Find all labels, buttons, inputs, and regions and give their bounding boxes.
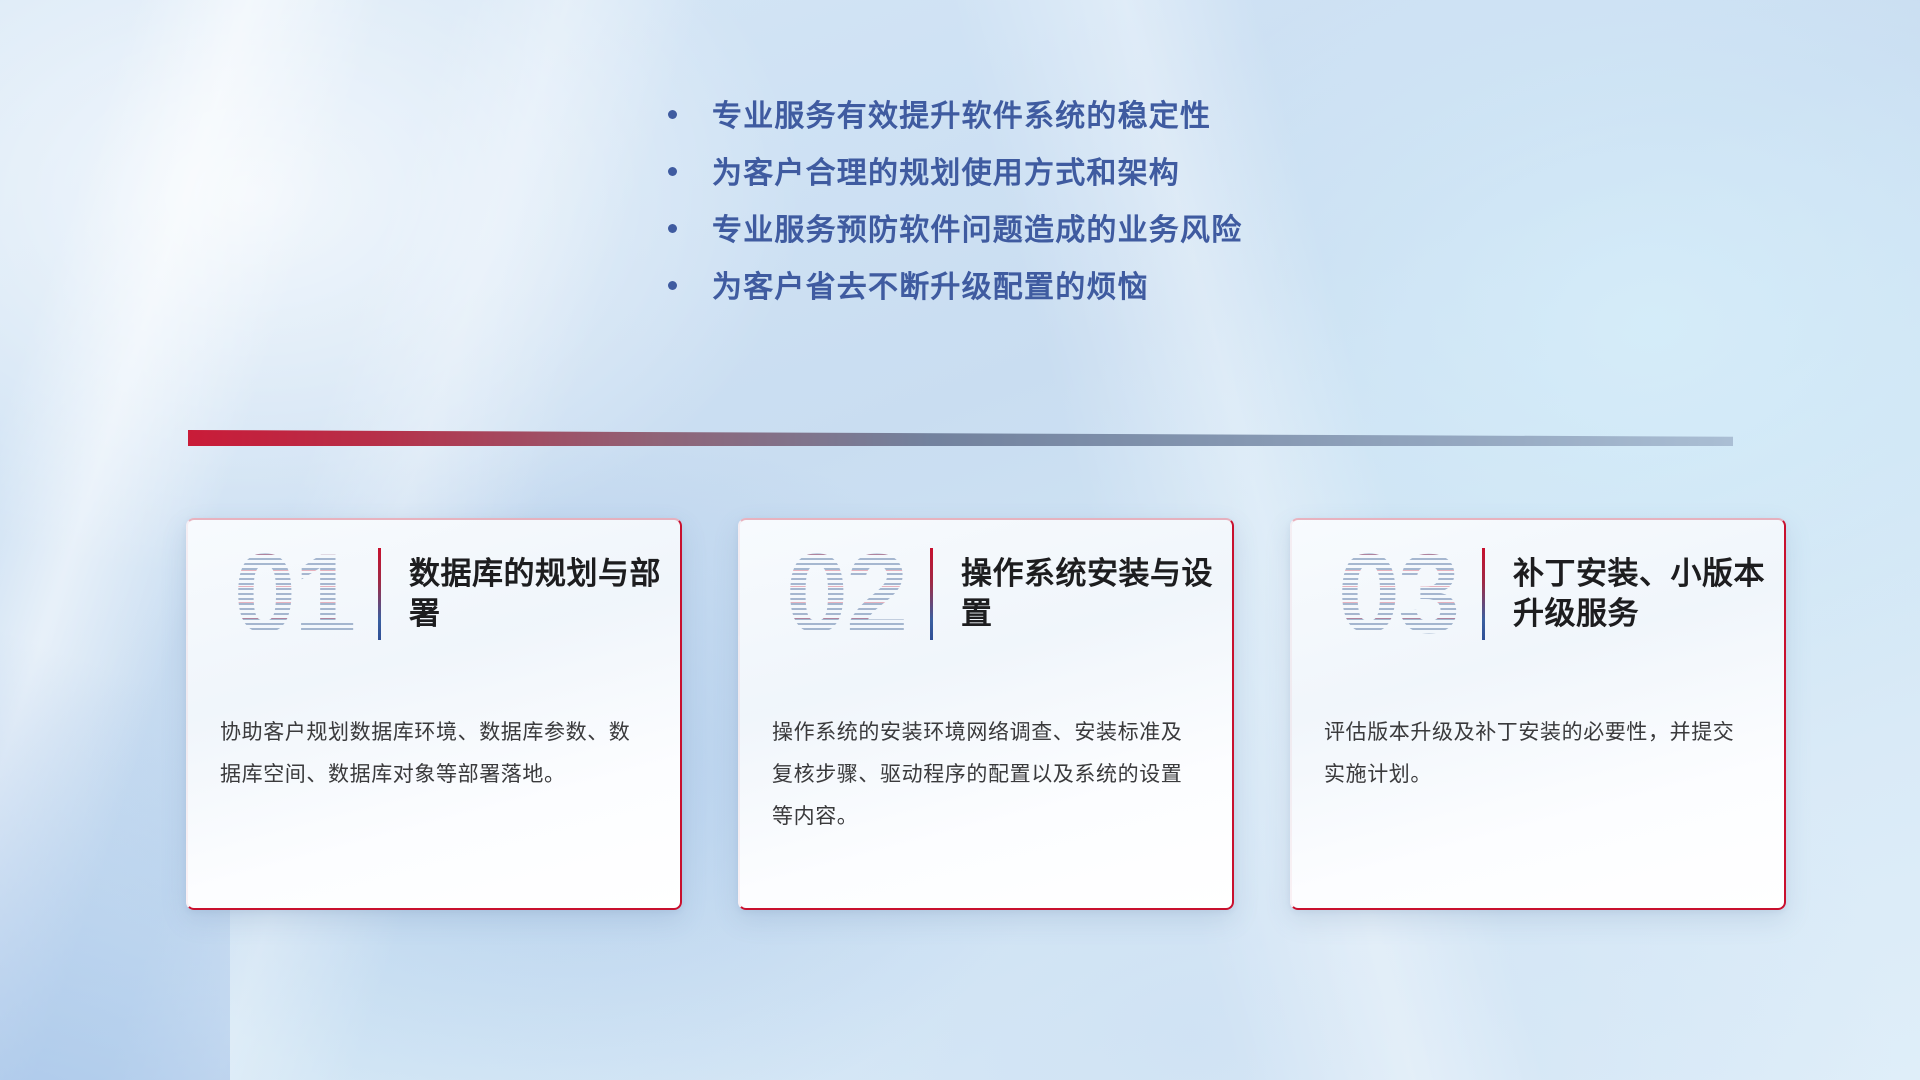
bullet-dot-icon: [668, 224, 677, 233]
bullet-dot-icon: [668, 167, 677, 176]
slide-canvas: 专业服务有效提升软件系统的稳定性 为客户合理的规划使用方式和架构 专业服务预防软…: [0, 0, 1920, 1080]
card-title: 操作系统安装与设置: [961, 554, 1234, 633]
bullet-list: 专业服务有效提升软件系统的稳定性 为客户合理的规划使用方式和架构 专业服务预防软…: [668, 102, 1242, 330]
card-accent-bar-icon: [930, 548, 933, 640]
card-header: 01 01 数据库的规划与部署: [186, 518, 682, 670]
card-01[interactable]: 01 01 数据库的规划与部署 协助客户规划数据库环境、数据库参数、数据库空间、…: [186, 518, 682, 910]
bullet-dot-icon: [668, 110, 677, 119]
bullet-dot-icon: [668, 281, 677, 290]
card-title: 数据库的规划与部署: [409, 554, 682, 633]
card-body-text: 操作系统的安装环境网络调查、安装标准及复核步骤、驱动程序的配置以及系统的设置等内…: [738, 670, 1234, 838]
list-item: 专业服务有效提升软件系统的稳定性: [668, 102, 1242, 132]
card-body-text: 评估版本升级及补丁安装的必要性，并提交实施计划。: [1290, 670, 1786, 796]
card-number-watermark: 01 01: [216, 538, 372, 650]
list-item: 专业服务预防软件问题造成的业务风险: [668, 216, 1242, 246]
card-accent-bar-icon: [378, 548, 381, 640]
card-header: 02 02 操作系统安装与设置: [738, 518, 1234, 670]
list-item: 为客户省去不断升级配置的烦恼: [668, 273, 1242, 303]
card-02[interactable]: 02 02 操作系统安装与设置 操作系统的安装环境网络调查、安装标准及复核步骤、…: [738, 518, 1234, 910]
card-body-text: 协助客户规划数据库环境、数据库参数、数据库空间、数据库对象等部署落地。: [186, 670, 682, 796]
card-number-watermark: 03 03: [1320, 538, 1476, 650]
divider-wedge: [188, 430, 1733, 446]
card-header: 03 03 补丁安装、小版本升级服务: [1290, 518, 1786, 670]
card-accent-bar-icon: [1482, 548, 1485, 640]
section-divider: [188, 430, 1733, 446]
card-03[interactable]: 03 03 补丁安装、小版本升级服务 评估版本升级及补丁安装的必要性，并提交实施…: [1290, 518, 1786, 910]
bullet-text: 专业服务预防软件问题造成的业务风险: [712, 216, 1242, 246]
card-number-watermark: 02 02: [768, 538, 924, 650]
card-number-tint: 01: [216, 538, 372, 650]
card-number-tint: 03: [1320, 538, 1476, 650]
bullet-text: 专业服务有效提升软件系统的稳定性: [712, 102, 1211, 132]
list-item: 为客户合理的规划使用方式和架构: [668, 159, 1242, 189]
card-number-tint: 02: [768, 538, 924, 650]
bullet-text: 为客户省去不断升级配置的烦恼: [712, 273, 1149, 303]
card-group: 01 01 数据库的规划与部署 协助客户规划数据库环境、数据库参数、数据库空间、…: [186, 518, 1786, 918]
card-title: 补丁安装、小版本升级服务: [1513, 554, 1786, 633]
bullet-text: 为客户合理的规划使用方式和架构: [712, 159, 1180, 189]
